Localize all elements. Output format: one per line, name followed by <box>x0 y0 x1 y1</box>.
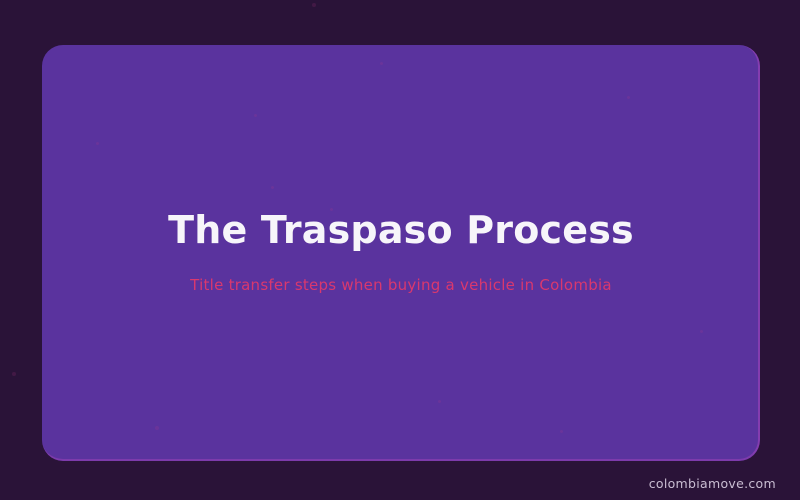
watermark-label: colombiamove.com <box>649 476 776 491</box>
slide-subtitle: Title transfer steps when buying a vehic… <box>190 276 612 296</box>
speckle-dot <box>312 3 316 7</box>
speckle-dot <box>12 372 16 376</box>
page-title: The Traspaso Process <box>168 210 634 252</box>
slide-card: The Traspaso Process Title transfer step… <box>42 45 760 461</box>
slide-content: The Traspaso Process Title transfer step… <box>42 45 760 461</box>
